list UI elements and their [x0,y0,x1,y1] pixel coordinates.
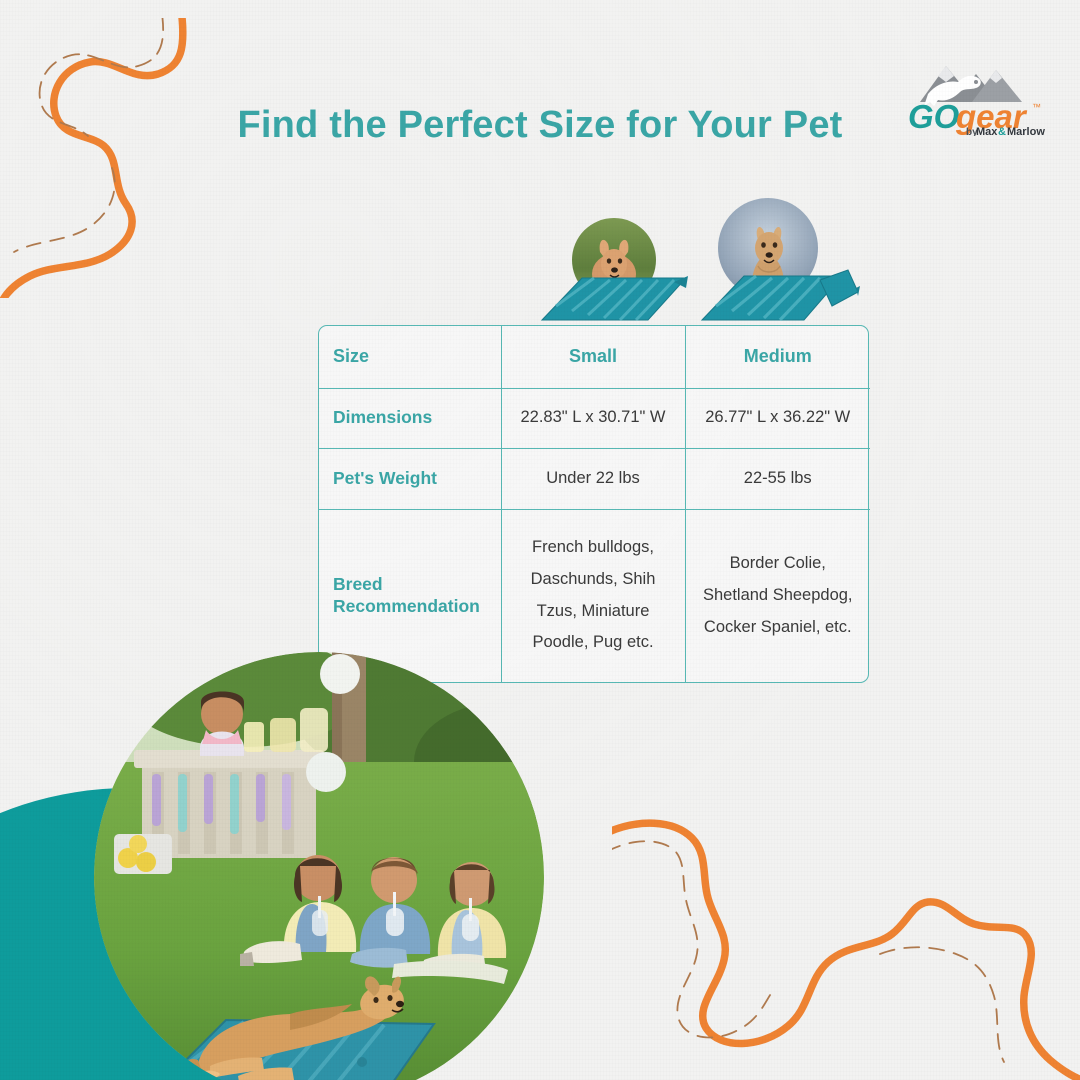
svg-text:Marlow: Marlow [1007,126,1045,136]
svg-text:GO: GO [908,98,960,135]
cell-weight-small: Under 22 lbs [501,448,685,509]
squiggle-top-left-icon [0,18,226,298]
poster-canvas: Find the Perfect Size for Your Pet GO ge… [0,0,1080,1080]
cell-weight-medium: 22-55 lbs [685,448,870,509]
hero-medium-dog-mat [700,196,860,332]
cell-dimensions-small: 22.83" L x 30.71" W [501,388,685,448]
lifestyle-photo [94,652,544,1080]
cell-dimensions-medium: 26.77" L x 36.22" W [685,388,870,448]
svg-text:&: & [998,126,1006,136]
header-small: Small [501,326,685,388]
table-row: Dimensions 22.83" L x 30.71" W 26.77" L … [319,388,870,448]
table-row: Breed Recommendation French bulldogs, Da… [319,509,870,682]
squiggle-bottom-right-icon [612,812,1080,1080]
table-header-row: Size Small Medium [319,326,870,388]
brand-logo: GO gear ™ by Max & Marlow [902,44,1052,136]
row-label-weight: Pet's Weight [319,448,501,509]
table-row: Pet's Weight Under 22 lbs 22-55 lbs [319,448,870,509]
hero-small-dog-mat [536,212,696,332]
header-medium: Medium [685,326,870,388]
svg-text:Max: Max [976,126,998,136]
row-label-dimensions: Dimensions [319,388,501,448]
cell-breed-small: French bulldogs, Daschunds, Shih Tzus, M… [501,509,685,682]
cell-breed-medium: Border Colie, Shetland Sheepdog, Cocker … [685,509,870,682]
size-chart-table: Size Small Medium Dimensions 22.83" L x … [318,325,869,683]
header-size: Size [319,326,501,388]
svg-text:™: ™ [1032,102,1041,112]
